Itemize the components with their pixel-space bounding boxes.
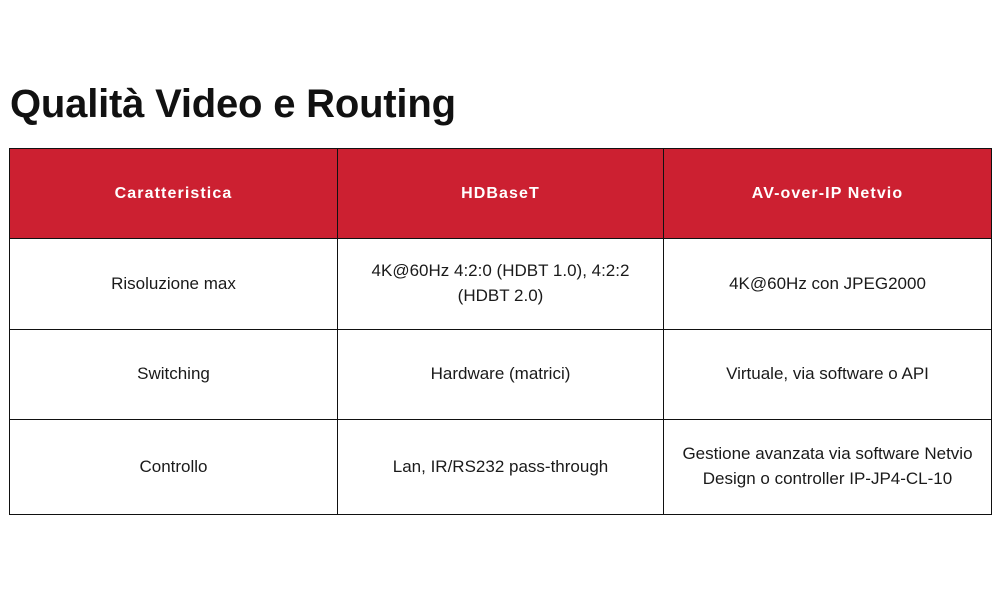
table-body: Risoluzione max 4K@60Hz 4:2:0 (HDBT 1.0)… (10, 239, 992, 515)
cell-hdbaset: Hardware (matrici) (338, 330, 664, 420)
table-header-row: Caratteristica HDBaseT AV-over-IP Netvio (10, 149, 992, 239)
comparison-table: Caratteristica HDBaseT AV-over-IP Netvio… (9, 148, 992, 515)
cell-hdbaset: 4K@60Hz 4:2:0 (HDBT 1.0), 4:2:2 (HDBT 2.… (338, 239, 664, 330)
table-row: Switching Hardware (matrici) Virtuale, v… (10, 330, 992, 420)
cell-hdbaset: Lan, IR/RS232 pass-through (338, 420, 664, 515)
cell-feature: Controllo (10, 420, 338, 515)
cell-netvio: 4K@60Hz con JPEG2000 (664, 239, 992, 330)
column-header-caratteristica: Caratteristica (10, 149, 338, 239)
column-header-hdbaset: HDBaseT (338, 149, 664, 239)
document-page: Qualità Video e Routing Caratteristica H… (0, 0, 1000, 600)
cell-netvio: Virtuale, via software o API (664, 330, 992, 420)
cell-netvio: Gestione avanzata via software Netvio De… (664, 420, 992, 515)
cell-feature: Switching (10, 330, 338, 420)
cell-feature: Risoluzione max (10, 239, 338, 330)
table-row: Risoluzione max 4K@60Hz 4:2:0 (HDBT 1.0)… (10, 239, 992, 330)
column-header-av-over-ip-netvio: AV-over-IP Netvio (664, 149, 992, 239)
table-header: Caratteristica HDBaseT AV-over-IP Netvio (10, 149, 992, 239)
page-title: Qualità Video e Routing (10, 81, 456, 127)
table-row: Controllo Lan, IR/RS232 pass-through Ges… (10, 420, 992, 515)
